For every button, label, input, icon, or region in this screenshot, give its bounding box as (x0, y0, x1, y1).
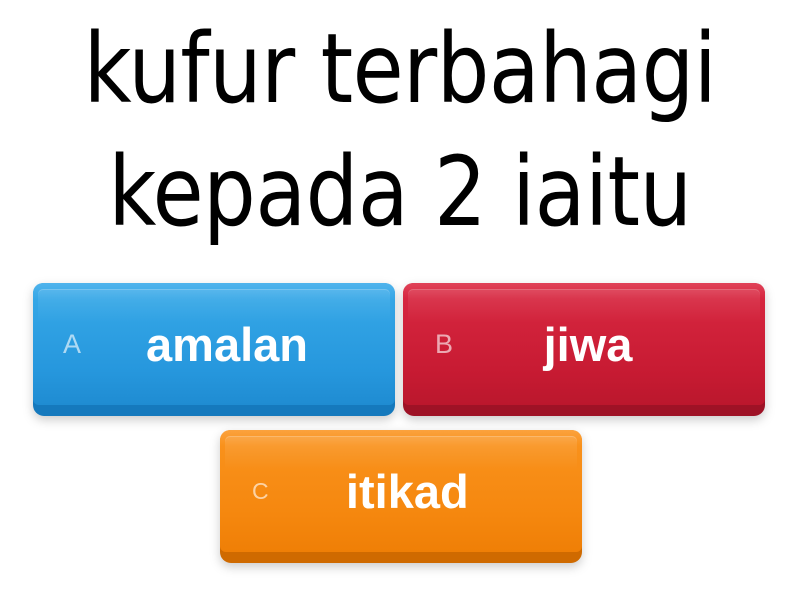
answer-a-key: A (63, 331, 81, 358)
answer-a-face: A amalan (33, 283, 395, 405)
answer-a-label: amalan (81, 321, 395, 368)
answer-c-label: itikad (269, 468, 582, 515)
quiz-slide: kufur terbahagi kepada 2 iaitu A amalan … (0, 0, 800, 600)
answer-b-face: B jiwa (403, 283, 765, 405)
answer-option-c[interactable]: C itikad (220, 430, 582, 563)
answer-c-face: C itikad (220, 430, 582, 552)
answer-option-b[interactable]: B jiwa (403, 283, 765, 416)
answer-option-a[interactable]: A amalan (33, 283, 395, 416)
answer-b-label: jiwa (453, 321, 765, 368)
question-text: kufur terbahagi kepada 2 iaitu (16, 8, 784, 254)
answer-c-key: C (252, 480, 269, 503)
answer-b-key: B (435, 331, 453, 358)
